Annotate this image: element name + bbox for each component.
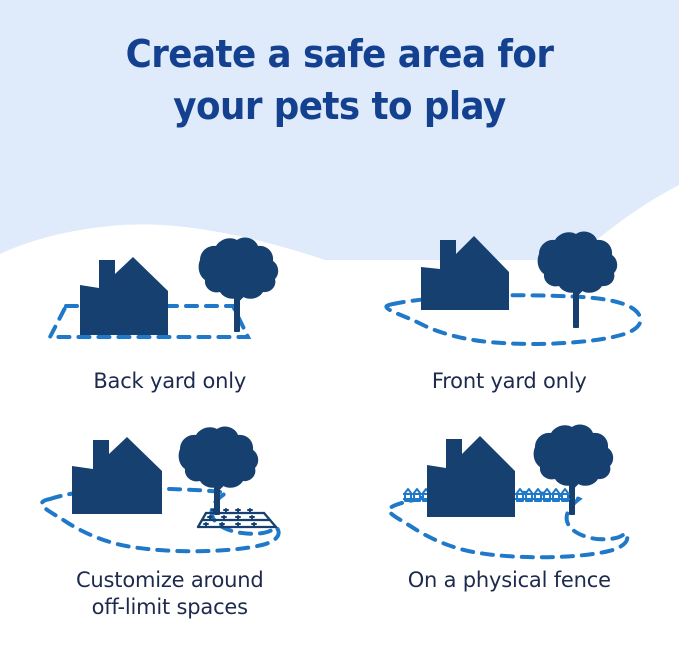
option-card-customize-around-off-limit-spaces[interactable]: Customize around off-limit spaces: [0, 395, 340, 621]
tree-icon: [178, 427, 258, 515]
illustration-back-yard-only: [20, 222, 320, 362]
option-label-line-1: Customize around: [76, 567, 264, 594]
illustration-customize-off-limits: [20, 421, 320, 561]
option-card-back-yard-only[interactable]: Back yard only: [0, 222, 340, 395]
option-label-back-yard-only: Back yard only: [93, 368, 246, 395]
illustration-physical-fence: [359, 421, 659, 561]
house-icon: [421, 236, 509, 310]
option-label-line-1: On a physical fence: [408, 568, 611, 592]
option-label-on-a-physical-fence: On a physical fence: [408, 567, 611, 594]
infographic-page: Create a safe area for your pets to play: [0, 0, 679, 647]
option-label-line-2: off-limit spaces: [76, 594, 264, 621]
house-icon: [80, 257, 168, 335]
illustration-front-yard-only: [359, 222, 659, 362]
option-card-on-a-physical-fence[interactable]: On a physical fence: [340, 395, 679, 621]
option-card-front-yard-only[interactable]: Front yard only: [340, 222, 679, 395]
option-label-customize-off-limits: Customize around off-limit spaces: [76, 567, 264, 621]
picket-fence-icon: [403, 489, 431, 501]
house-icon: [427, 436, 515, 517]
page-title-line-1: Create a safe area for: [20, 28, 658, 80]
tree-icon: [198, 238, 278, 332]
page-title-line-2: your pets to play: [20, 80, 658, 132]
options-grid: Back yard only: [0, 222, 679, 621]
house-icon: [72, 437, 162, 514]
option-label-line-1: Front yard only: [432, 369, 587, 393]
option-label-front-yard-only: Front yard only: [432, 368, 587, 395]
option-label-line-1: Back yard only: [93, 369, 246, 393]
tree-icon: [538, 232, 618, 328]
page-title: Create a safe area for your pets to play: [20, 28, 658, 132]
